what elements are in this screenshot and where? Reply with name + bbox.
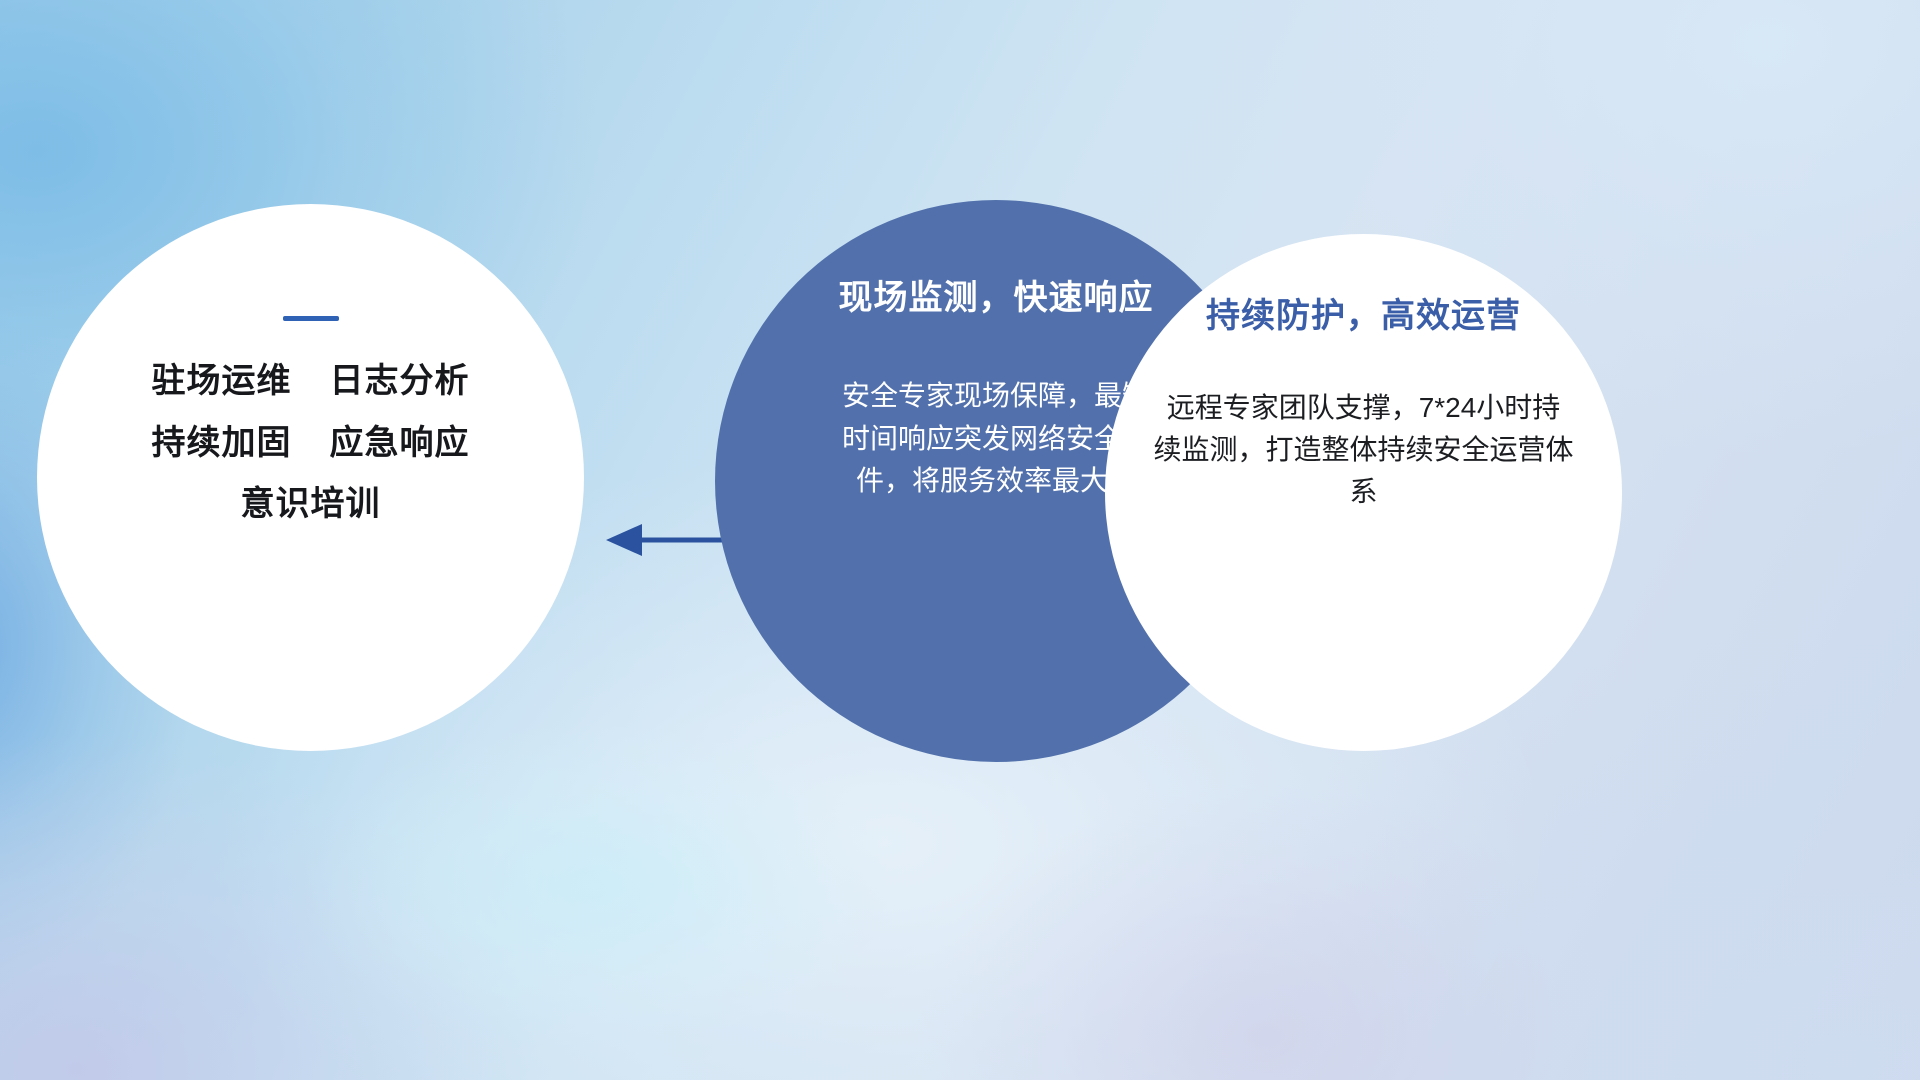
keyword-item: 日志分析 <box>330 364 470 400</box>
right-circle-body: 远程专家团队支撑，7*24小时持续监测，打造整体持续安全运营体系 <box>1154 387 1574 513</box>
short-dash-divider-icon <box>283 316 339 321</box>
center-circle-title: 现场监测，快速响应 <box>839 280 1154 317</box>
slide-canvas: 驻场运维 日志分析 持续加固 应急响应 意识培训 现场监测，快速响应 安全专家现… <box>0 0 1920 1080</box>
keyword-row: 持续加固 应急响应 <box>152 426 470 462</box>
keyword-item: 持续加固 <box>152 426 292 462</box>
keyword-list: 驻场运维 日志分析 持续加固 应急响应 意识培训 <box>152 364 470 523</box>
keyword-item: 意识培训 <box>241 487 381 523</box>
keyword-item: 应急响应 <box>330 426 470 462</box>
capability-circle-left: 驻场运维 日志分析 持续加固 应急响应 意识培训 <box>37 204 584 751</box>
right-circle-title: 持续防护，高效运营 <box>1206 298 1521 335</box>
keyword-item: 驻场运维 <box>152 364 292 400</box>
capability-circle-right: 持续防护，高效运营 远程专家团队支撑，7*24小时持续监测，打造整体持续安全运营… <box>1105 234 1622 751</box>
keyword-row: 意识培训 <box>241 487 381 523</box>
keyword-row: 驻场运维 日志分析 <box>152 364 470 400</box>
